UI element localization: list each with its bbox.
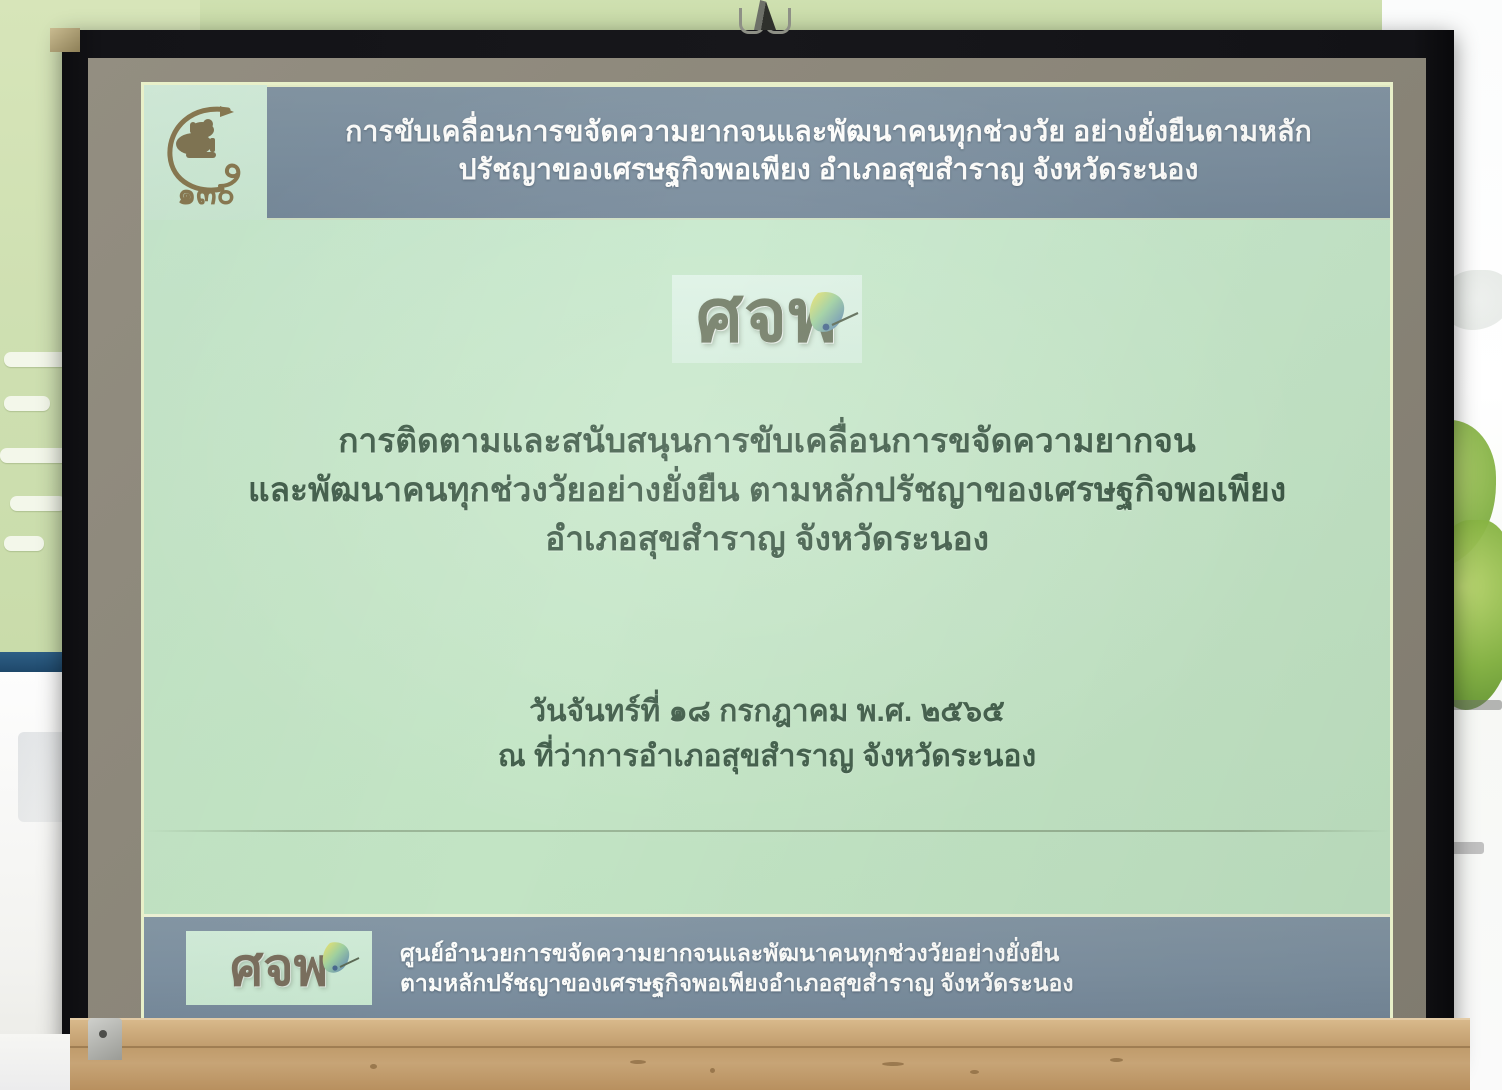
main-title-line-1: การติดตามและสนับสนุนการขับเคลื่อนการขจัด… <box>166 417 1368 466</box>
map-leaf-graphic-small-icon <box>318 939 360 981</box>
wooden-beam-end-cap <box>88 1018 122 1060</box>
scp-abbreviation-small: ศจพ <box>230 942 328 994</box>
footer-logo-box: ศจพ <box>186 931 372 1005</box>
slide-header: ๑๓๐ การขับเคลื่อนการขจัดความยากจนและพัฒน… <box>144 85 1390 220</box>
event-date-venue: วันจันทร์ที่ ๑๘ กรกฎาคม พ.ศ. ๒๕๖๕ ณ ที่ว… <box>144 689 1390 779</box>
slide-footer: ศจพ ศูนย์อำนวยการขจัดความยากจนและพัฒนาคน… <box>144 914 1390 1019</box>
header-title-text: การขับเคลื่อนการขจัดความยากจนและพัฒนาคนท… <box>331 112 1326 193</box>
svg-text:๑๓๐: ๑๓๐ <box>177 177 235 212</box>
header-title-band: การขับเคลื่อนการขจัดความยากจนและพัฒนาคนท… <box>267 85 1390 220</box>
event-venue: ณ ที่ว่าการอำเภอสุขสำราญ จังหวัดระนอง <box>144 734 1390 779</box>
event-date: วันจันทร์ที่ ๑๘ กรกฎาคม พ.ศ. ๒๕๖๕ <box>144 689 1390 734</box>
footer-text-line-1: ศูนย์อำนวยการขจัดความยากจนและพัฒนาคนทุกช… <box>400 938 1074 968</box>
screen-frame-corner-cap <box>50 28 80 52</box>
presentation-slide: ๑๓๐ การขับเคลื่อนการขจัดความยากจนและพัฒน… <box>144 85 1390 1019</box>
wooden-beam <box>70 1018 1470 1090</box>
main-title-line-3: อำเภอสุขสำราญ จังหวัดระนอง <box>166 515 1368 564</box>
center-logo-box: ศจพ <box>672 275 862 363</box>
slide-main-title: การติดตามและสนับสนุนการขับเคลื่อนการขจัด… <box>144 417 1390 565</box>
footer-text-line-2: ตามหลักปรัชญาของเศรษฐกิจพอเพียงอำเภอสุขส… <box>400 968 1074 998</box>
main-title-line-2: และพัฒนาคนทุกช่วงวัยอย่างยั่งยืน ตามหลัก… <box>166 466 1368 515</box>
header-title-line-1: การขับเคลื่อนการขจัดความยากจนและพัฒนาคนท… <box>345 114 1312 152</box>
map-leaf-graphic-icon <box>802 287 860 343</box>
center-logo-wrap: ศจพ <box>144 275 1390 363</box>
header-logo-box: ๑๓๐ <box>144 85 267 220</box>
slide-outer-edge: ๑๓๐ การขับเคลื่อนการขจัดความยากจนและพัฒน… <box>141 82 1393 1022</box>
screen-pull-hook[interactable] <box>739 0 791 36</box>
footer-text: ศูนย์อำนวยการขจัดความยากจนและพัฒนาคนทุกช… <box>400 938 1074 999</box>
130-anniversary-emblem-icon: ๑๓๐ <box>158 94 254 212</box>
header-title-line-2: ปรัชญาของเศรษฐกิจพอเพียง อำเภอสุขสำราญ จ… <box>345 152 1312 190</box>
screen-fabric-seam <box>144 830 1390 832</box>
